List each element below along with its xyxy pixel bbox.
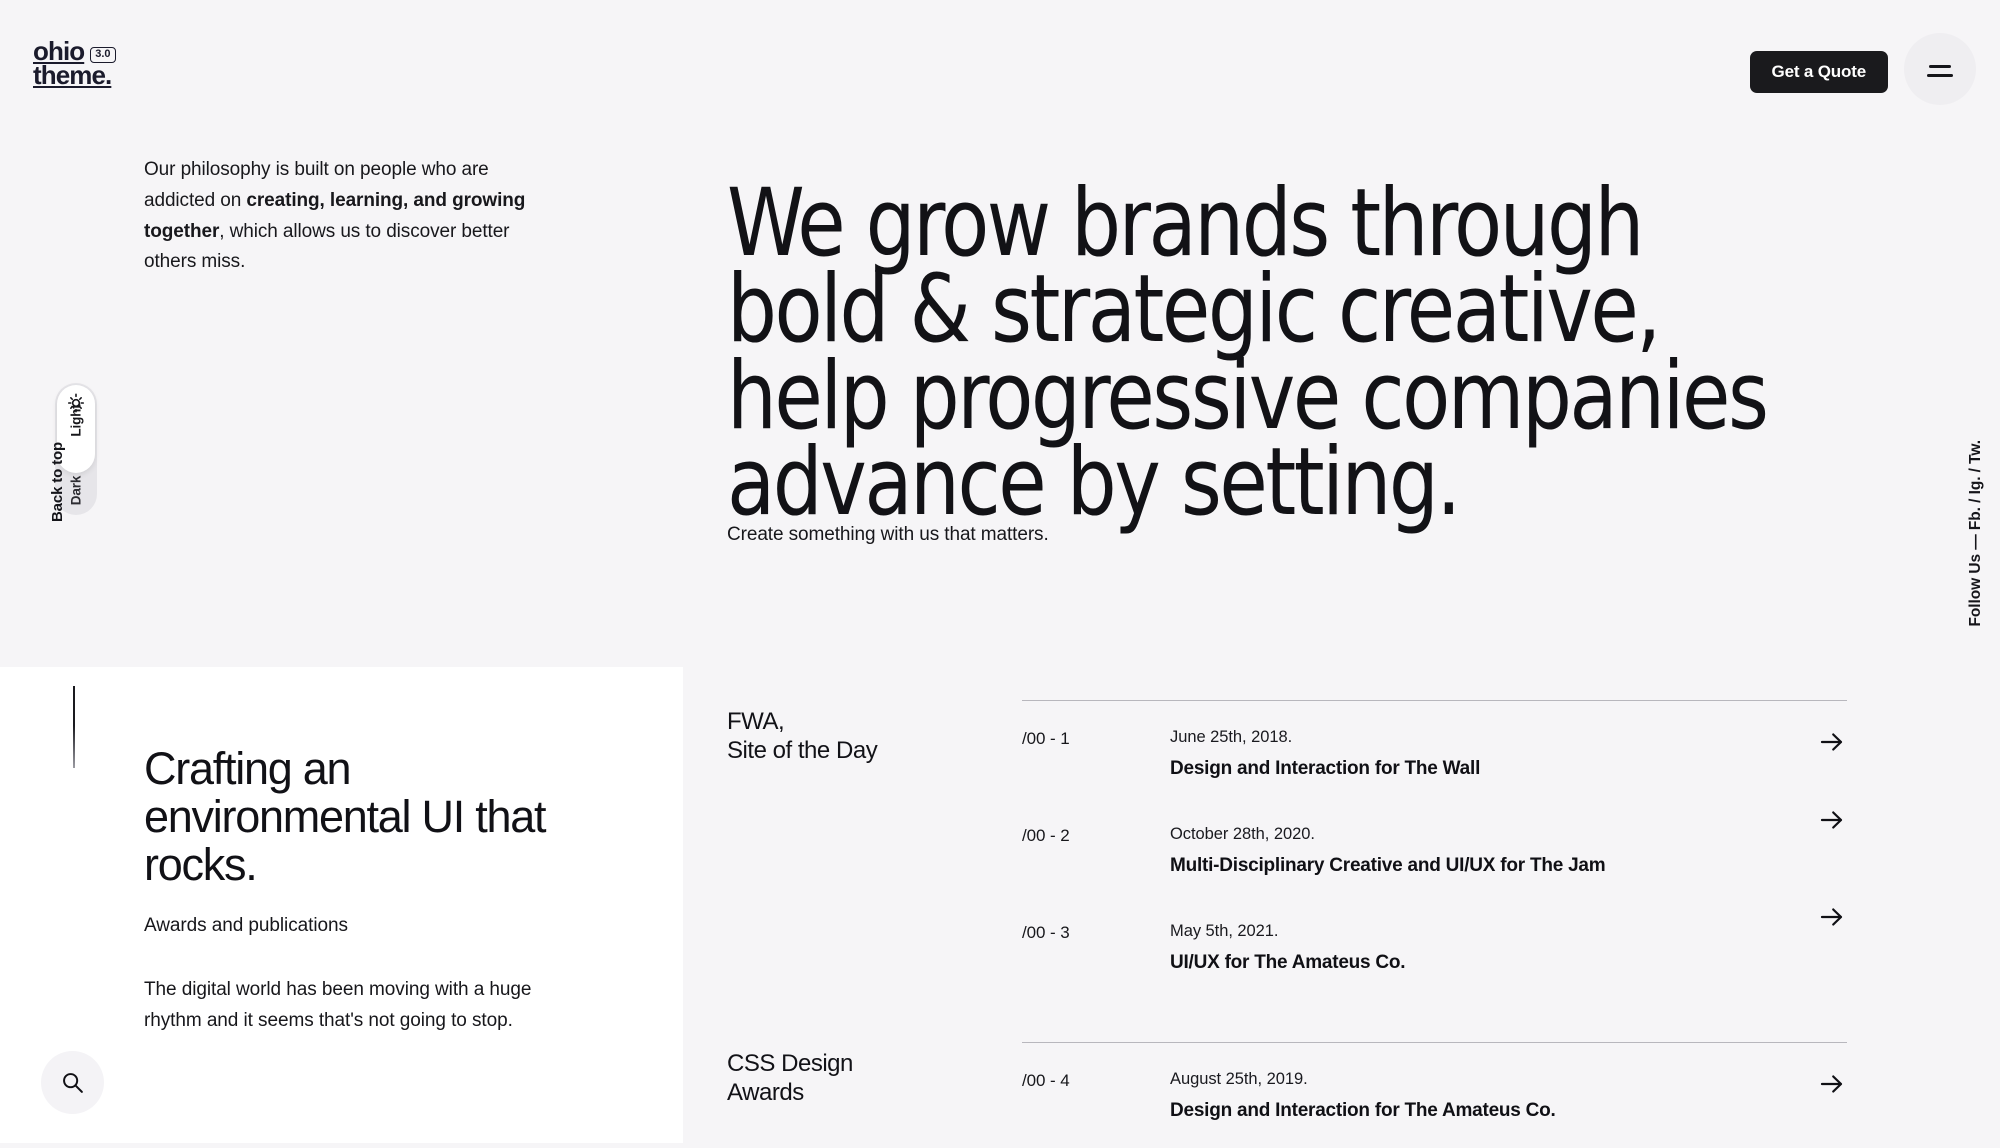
award-row-title: Multi-Disciplinary Creative and UI/UX fo… [1170,855,1847,877]
awards-list: FWA, Site of the Day/00 - 1June 25th, 20… [727,700,1847,1148]
accent-rule [73,686,75,768]
awards-kicker: Awards and publications [144,915,348,937]
award-group-rows: /00 - 4August 25th, 2019.Design and Inte… [1022,1042,1847,1148]
award-row-date: August 25th, 2019. [1170,1070,1847,1089]
award-group: FWA, Site of the Day/00 - 1June 25th, 20… [727,700,1847,1000]
theme-option-light[interactable]: Light [69,400,84,442]
hamburger-icon-line-bottom [1927,74,1953,77]
back-to-top-link[interactable]: Back to top [47,382,69,522]
award-row[interactable]: /00 - 1June 25th, 2018.Design and Intera… [1022,728,1847,806]
award-row-content: October 28th, 2020.Multi-Disciplinary Cr… [1170,825,1847,877]
search-icon [60,1070,85,1095]
award-row-title: Design and Interaction for The Amateus C… [1170,1100,1847,1122]
award-row-date: June 25th, 2018. [1170,728,1847,747]
menu-button[interactable] [1904,33,1976,105]
awards-body-text: The digital world has been moving with a… [144,975,564,1037]
award-row-title: Design and Interaction for The Wall [1170,758,1847,780]
award-group-title: FWA, Site of the Day [727,700,1022,766]
award-row-content: August 25th, 2019.Design and Interaction… [1170,1070,1847,1122]
arrow-right-icon[interactable] [1817,727,1847,757]
award-row[interactable]: /00 - 4August 25th, 2019.Design and Inte… [1022,1070,1847,1148]
award-row[interactable]: /00 - 3May 5th, 2021.UI/UX for The Amate… [1022,903,1847,1000]
hero-headline: We grow brands through bold & strategic … [727,181,1778,527]
award-group-rows: /00 - 1June 25th, 2018.Design and Intera… [1022,700,1847,1000]
arrow-right-icon[interactable] [1817,902,1847,932]
site-header: ohio3.0 theme. Get a Quote [0,0,2000,140]
award-row[interactable]: /00 - 2October 28th, 2020.Multi-Discipli… [1022,806,1847,903]
arrow-right-icon[interactable] [1817,1069,1847,1099]
hamburger-icon-line-top [1929,65,1951,68]
intro-paragraph: Our philosophy is built on people who ar… [144,155,544,278]
award-row-index: /00 - 1 [1022,728,1170,749]
award-row-index: /00 - 3 [1022,922,1170,943]
follow-us-links[interactable]: Follow Us — Fb. / Ig. / Tw. [1964,440,1988,670]
theme-option-dark[interactable]: Dark [69,470,84,512]
award-row-date: May 5th, 2021. [1170,922,1847,941]
get-a-quote-button[interactable]: Get a Quote [1750,51,1888,93]
award-row-title: UI/UX for The Amateus Co. [1170,952,1847,974]
award-row-index: /00 - 2 [1022,825,1170,846]
award-row-index: /00 - 4 [1022,1070,1170,1091]
award-row-content: May 5th, 2021.UI/UX for The Amateus Co. [1170,922,1847,974]
hero-subtitle: Create something with us that matters. [727,524,1049,546]
brand-logo-line2: theme. [33,64,116,88]
award-group-title: CSS Design Awards [727,1042,1022,1108]
award-row-content: June 25th, 2018.Design and Interaction f… [1170,728,1847,780]
award-group: CSS Design Awards/00 - 4August 25th, 201… [727,1042,1847,1148]
brand-logo[interactable]: ohio3.0 theme. [33,40,116,88]
arrow-right-icon[interactable] [1817,805,1847,835]
content-panel-background [0,667,683,1143]
search-button[interactable] [41,1051,104,1114]
award-row-date: October 28th, 2020. [1170,825,1847,844]
awards-heading: Crafting an environmental UI that rocks. [144,745,564,888]
